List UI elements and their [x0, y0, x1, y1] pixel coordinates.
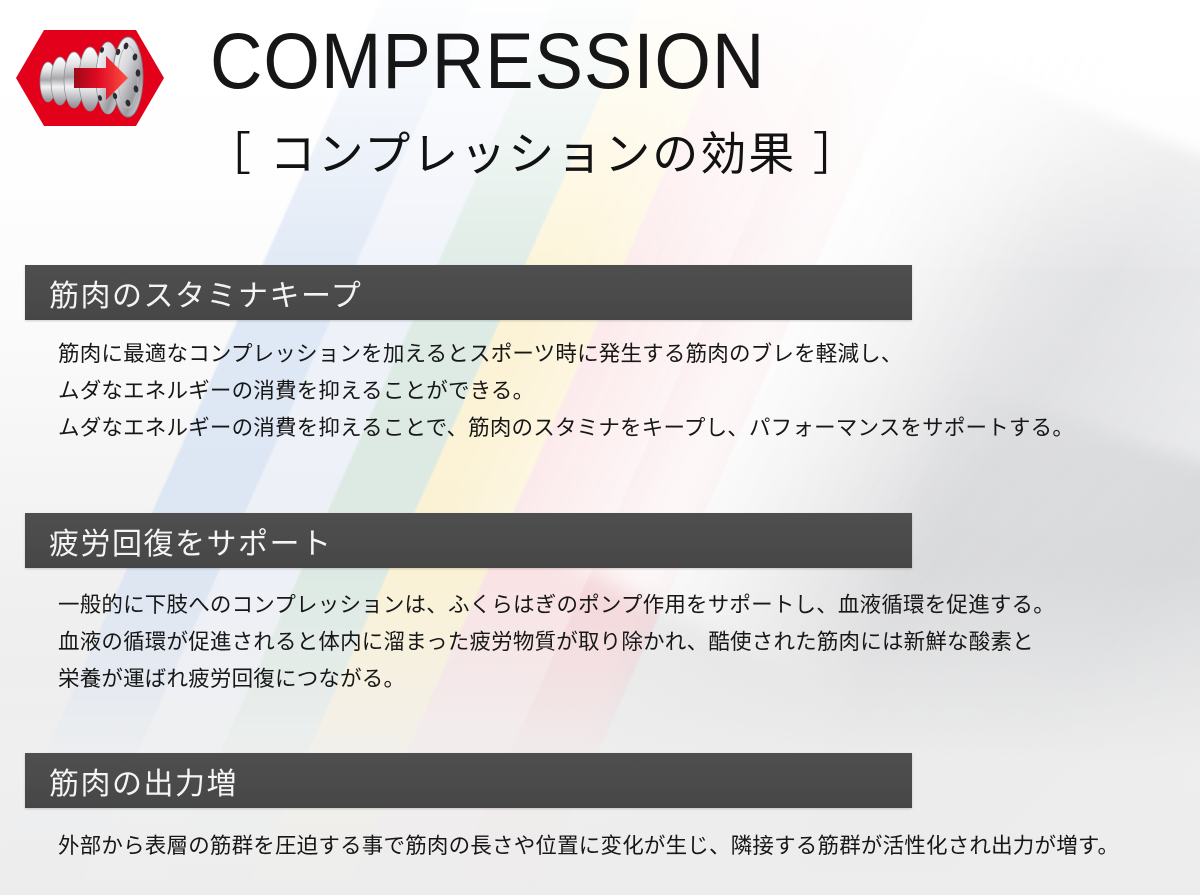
body-line: 一般的に下肢へのコンプレッションは、ふくらはぎのポンプ作用をサポートし、血液循環…: [58, 587, 1200, 624]
page-subtitle: ［ コンプレッションの効果 ］: [205, 128, 861, 180]
body-line: 栄養が運ばれ疲労回復につながる。: [58, 661, 1200, 698]
section-header-bar: 筋肉のスタミナキープ: [25, 265, 912, 320]
page-title: COMPRESSION: [210, 19, 765, 103]
section-heading: 疲労回復をサポート: [49, 519, 333, 563]
poster-header: COMPRESSION ［ コンプレッションの効果 ］: [0, 0, 1200, 215]
section-muscle-output: 筋肉の出力増 外部から表層の筋群を圧迫する事で筋肉の長さや位置に変化が生じ、隣接…: [0, 753, 1200, 865]
body-line: 血液の循環が促進されると体内に溜まった疲労物質が取り除かれ、酷使された筋肉には新…: [58, 624, 1200, 661]
section-muscle-stamina: 筋肉のスタミナキープ 筋肉に最適なコンプレッションを加えるとスポーツ時に発生する…: [0, 265, 1200, 447]
body-line: 筋肉に最適なコンプレッションを加えるとスポーツ時に発生する筋肉のブレを軽減し、: [58, 336, 1200, 373]
section-fatigue-recovery: 疲労回復をサポート 一般的に下肢へのコンプレッションは、ふくらはぎのポンプ作用を…: [0, 513, 1200, 698]
section-body: 外部から表層の筋群を圧迫する事で筋肉の長さや位置に変化が生じ、隣接する筋群が活性…: [0, 828, 1200, 865]
section-heading: 筋肉のスタミナキープ: [49, 271, 362, 315]
compression-coil-logo-icon: [14, 26, 166, 130]
section-heading: 筋肉の出力増: [49, 759, 238, 803]
section-header-bar: 筋肉の出力増: [25, 753, 912, 808]
body-line: ムダなエネルギーの消費を抑えることができる。: [58, 373, 1200, 410]
poster-page: COMPRESSION ［ コンプレッションの効果 ］ 筋肉のスタミナキープ 筋…: [0, 0, 1200, 895]
body-line: 外部から表層の筋群を圧迫する事で筋肉の長さや位置に変化が生じ、隣接する筋群が活性…: [58, 828, 1200, 865]
body-line: ムダなエネルギーの消費を抑えることで、筋肉のスタミナをキープし、パフォーマンスを…: [58, 410, 1200, 447]
section-body: 筋肉に最適なコンプレッションを加えるとスポーツ時に発生する筋肉のブレを軽減し、 …: [0, 336, 1200, 447]
section-body: 一般的に下肢へのコンプレッションは、ふくらはぎのポンプ作用をサポートし、血液循環…: [0, 587, 1200, 698]
section-header-bar: 疲労回復をサポート: [25, 513, 912, 568]
